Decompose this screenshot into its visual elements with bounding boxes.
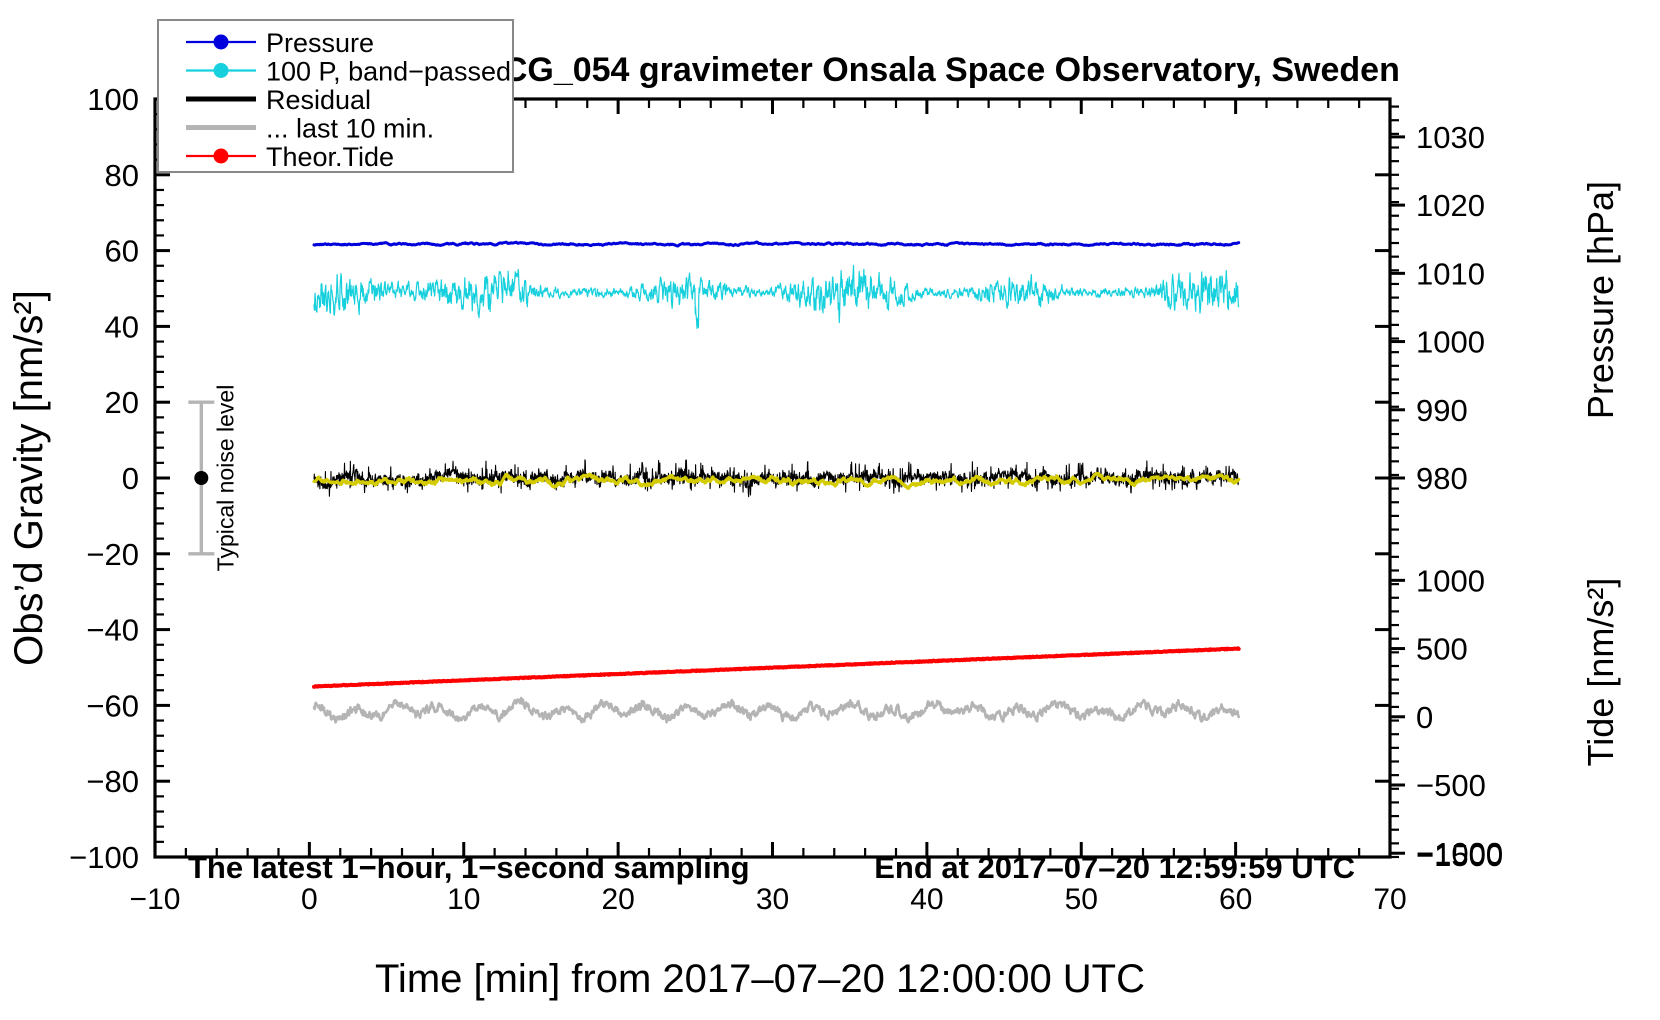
pressure-tick-label: 1030 bbox=[1416, 120, 1485, 155]
tide-tick-label: −1500 bbox=[1416, 838, 1503, 873]
x-tick-label: 10 bbox=[447, 883, 480, 916]
pressure-tick-label: 990 bbox=[1416, 393, 1468, 428]
tide-tick-label: 1000 bbox=[1416, 563, 1485, 598]
y-tick-label: −80 bbox=[86, 764, 139, 799]
noise-level-label: Typical noise level bbox=[212, 385, 238, 572]
pressure-tick-label: 1000 bbox=[1416, 325, 1485, 360]
x-tick-label: 20 bbox=[601, 883, 634, 916]
y-tick-label: 40 bbox=[105, 309, 139, 344]
legend-marker-0 bbox=[214, 35, 229, 50]
pressure-axis-title: Pressure [hPa] bbox=[1580, 181, 1621, 419]
y-tick-label: −40 bbox=[86, 613, 139, 648]
legend-label-4: Theor.Tide bbox=[266, 142, 394, 172]
x-tick-label: 50 bbox=[1065, 883, 1098, 916]
legend-label-2: Residual bbox=[266, 85, 371, 115]
tide-tick-label: 500 bbox=[1416, 632, 1468, 667]
x-axis-title: Time [min] from 2017–07–20 12:00:00 UTC bbox=[375, 957, 1145, 1001]
x-tick-label: 60 bbox=[1219, 883, 1252, 916]
legend-label-1: 100 P, band−passed bbox=[266, 57, 511, 87]
legend-marker-1 bbox=[214, 63, 229, 78]
y-tick-label: 60 bbox=[105, 234, 139, 269]
y-tick-label: 80 bbox=[105, 158, 139, 193]
series-pressure bbox=[314, 242, 1239, 246]
series-last-10-min bbox=[314, 698, 1239, 722]
x-tick-label: 40 bbox=[910, 883, 943, 916]
x-tick-label: 70 bbox=[1373, 883, 1406, 916]
chart-title: SCG_054 gravimeter Onsala Space Observat… bbox=[480, 51, 1400, 89]
annotation-bottom-left: The latest 1−hour, 1−second sampling bbox=[188, 850, 750, 885]
pressure-tick-label: 1020 bbox=[1416, 188, 1485, 223]
y-tick-label: −100 bbox=[69, 840, 139, 875]
tide-axis-title: Tide [nm/s²] bbox=[1580, 578, 1621, 767]
pressure-tick-label: 1010 bbox=[1416, 256, 1485, 291]
chart-canvas: −10010203040506070100806040200−20−40−60−… bbox=[0, 0, 1660, 1020]
x-tick-label: 0 bbox=[301, 883, 318, 916]
gravimeter-plot: −10010203040506070100806040200−20−40−60−… bbox=[0, 0, 1660, 1020]
y-tick-label: −60 bbox=[86, 688, 139, 723]
y-tick-label: 100 bbox=[87, 82, 139, 117]
legend-label-3: ... last 10 min. bbox=[266, 114, 434, 144]
pressure-tick-label: 980 bbox=[1416, 461, 1468, 496]
legend-label-0: Pressure bbox=[266, 28, 374, 58]
series-band-passed bbox=[314, 265, 1239, 328]
y-tick-label: −20 bbox=[86, 537, 139, 572]
x-tick-label: 30 bbox=[756, 883, 789, 916]
x-tick-label: −10 bbox=[130, 883, 181, 916]
series-theor-tide bbox=[314, 648, 1239, 687]
annotation-bottom-right: End at 2017–07–20 12:59:59 UTC bbox=[874, 850, 1355, 885]
tide-tick-label: −500 bbox=[1416, 768, 1486, 803]
y-tick-label: 20 bbox=[105, 385, 139, 420]
tide-tick-label: 0 bbox=[1416, 700, 1433, 735]
noise-center-dot bbox=[194, 471, 208, 485]
y-axis-title: Obs’d Gravity [nm/s²] bbox=[7, 290, 51, 666]
y-tick-label: 0 bbox=[122, 461, 139, 496]
legend-marker-4 bbox=[214, 149, 229, 164]
